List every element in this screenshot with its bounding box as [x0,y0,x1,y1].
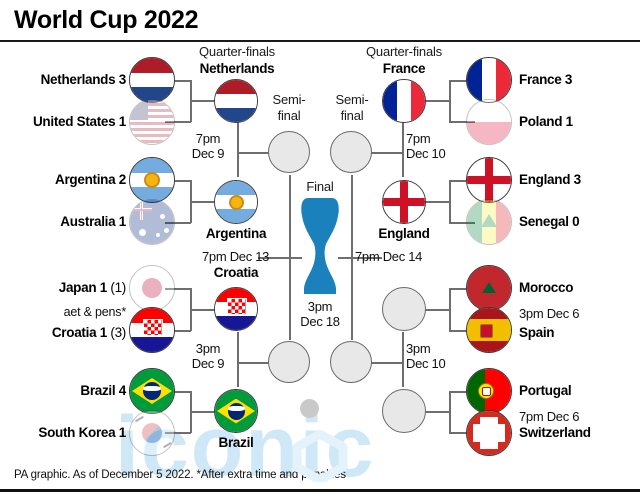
semifinal-placeholder-right [330,131,372,173]
team-label: Spain [519,325,554,340]
team-label: Netherlands 3 [0,72,126,87]
team-label: Argentina 2 [0,172,126,187]
stage-label-final: Final [288,179,352,194]
flag-switzerland [466,410,512,456]
flag-portugal [466,368,512,414]
team-label: Australia 1 [0,214,126,229]
world-cup-trophy-icon [296,196,344,298]
flag-croatia-qf [214,287,258,331]
match-time: Dec 10 [406,146,445,161]
stage-label-semi-right: Semi- [312,92,392,107]
semifinal-placeholder-left [268,131,310,173]
watermark-hexagon-icon [291,430,349,482]
bracket-line [402,122,404,177]
stage-label-quarter-right: Quarter-finals [345,44,463,59]
footer-divider [0,489,640,492]
flag-brazil-qf [214,389,258,433]
page-title: World Cup 2022 [14,6,198,35]
team-label: South Korea 1 [0,425,126,440]
team-label: Croatia 1 (3) [0,325,126,340]
team-label: United States 1 [0,114,126,129]
qf-winner-label: Argentina [178,226,294,241]
infographic-root: iconic World Cup 2022 [0,0,640,500]
team-label: Portugal [519,383,571,398]
team-label: Japan 1 (1) [0,280,126,295]
match-time: 7pm [406,131,430,146]
match-time: 3pm [406,341,430,356]
match-time: Dec 9 [182,356,234,371]
semifinal-placeholder-right-2 [330,341,372,383]
bracket-line [237,362,239,387]
flag-poland [466,99,512,145]
qf-winner-label: England [345,226,463,241]
final-time: 3pm [288,299,352,314]
bracket-line [370,362,403,364]
bracket-line [237,362,270,364]
team-label: Morocco [519,280,573,295]
bracket-line [402,332,404,387]
match-time: 3pm Dec 6 [519,306,579,321]
bracket-line [237,332,239,362]
match-time: 7pm Dec 6 [519,409,579,424]
team-label: Brazil 4 [0,383,126,398]
flag-usa [129,99,175,145]
qf-winner-label: Brazil [178,435,294,450]
bracket-line [237,152,239,177]
flag-brazil [129,368,175,414]
qf-winner-label: France [345,61,463,76]
watermark-dot [300,399,319,418]
flag-netherlands [129,57,175,103]
match-time: Dec 10 [406,356,445,371]
flag-spain [466,307,512,353]
semifinal-placeholder-left-2 [268,341,310,383]
semifinal-time-left: 7pm Dec 13 [202,249,269,264]
bracket-line [237,122,239,152]
team-label: England 3 [519,172,581,187]
bracket-line [237,152,270,154]
flag-england [466,157,512,203]
team-label: Poland 1 [519,114,573,129]
flag-japan [129,265,175,311]
flag-croatia [129,307,175,353]
stage-label-semi-right-2: final [312,108,392,123]
qf-winner-label: Croatia [178,265,294,280]
qf-winner-label: Netherlands [178,61,296,76]
final-time-2: Dec 18 [288,314,352,329]
stage-label-quarter-left: Quarter-finals [178,44,296,59]
flag-senegal [466,199,512,245]
team-label: France 3 [519,72,572,87]
flag-australia [129,199,175,245]
flag-england-qf [382,180,426,224]
match-time: 7pm [182,131,234,146]
flag-southkorea [129,410,175,456]
match-time: 3pm [182,341,234,356]
aet-note: aet & pens* [0,305,126,319]
semifinal-time-right: 7pm Dec 14 [355,249,422,264]
flag-argentina [129,157,175,203]
bracket-line [370,152,403,154]
header-divider [0,40,640,42]
flag-morocco [466,265,512,311]
match-time: Dec 9 [182,146,234,161]
team-label: Senegal 0 [519,214,579,229]
flag-france [466,57,512,103]
team-label: Switzerland [519,425,591,440]
qf-placeholder-right-4 [382,389,426,433]
flag-argentina-qf [214,180,258,224]
qf-placeholder-right-3 [382,287,426,331]
